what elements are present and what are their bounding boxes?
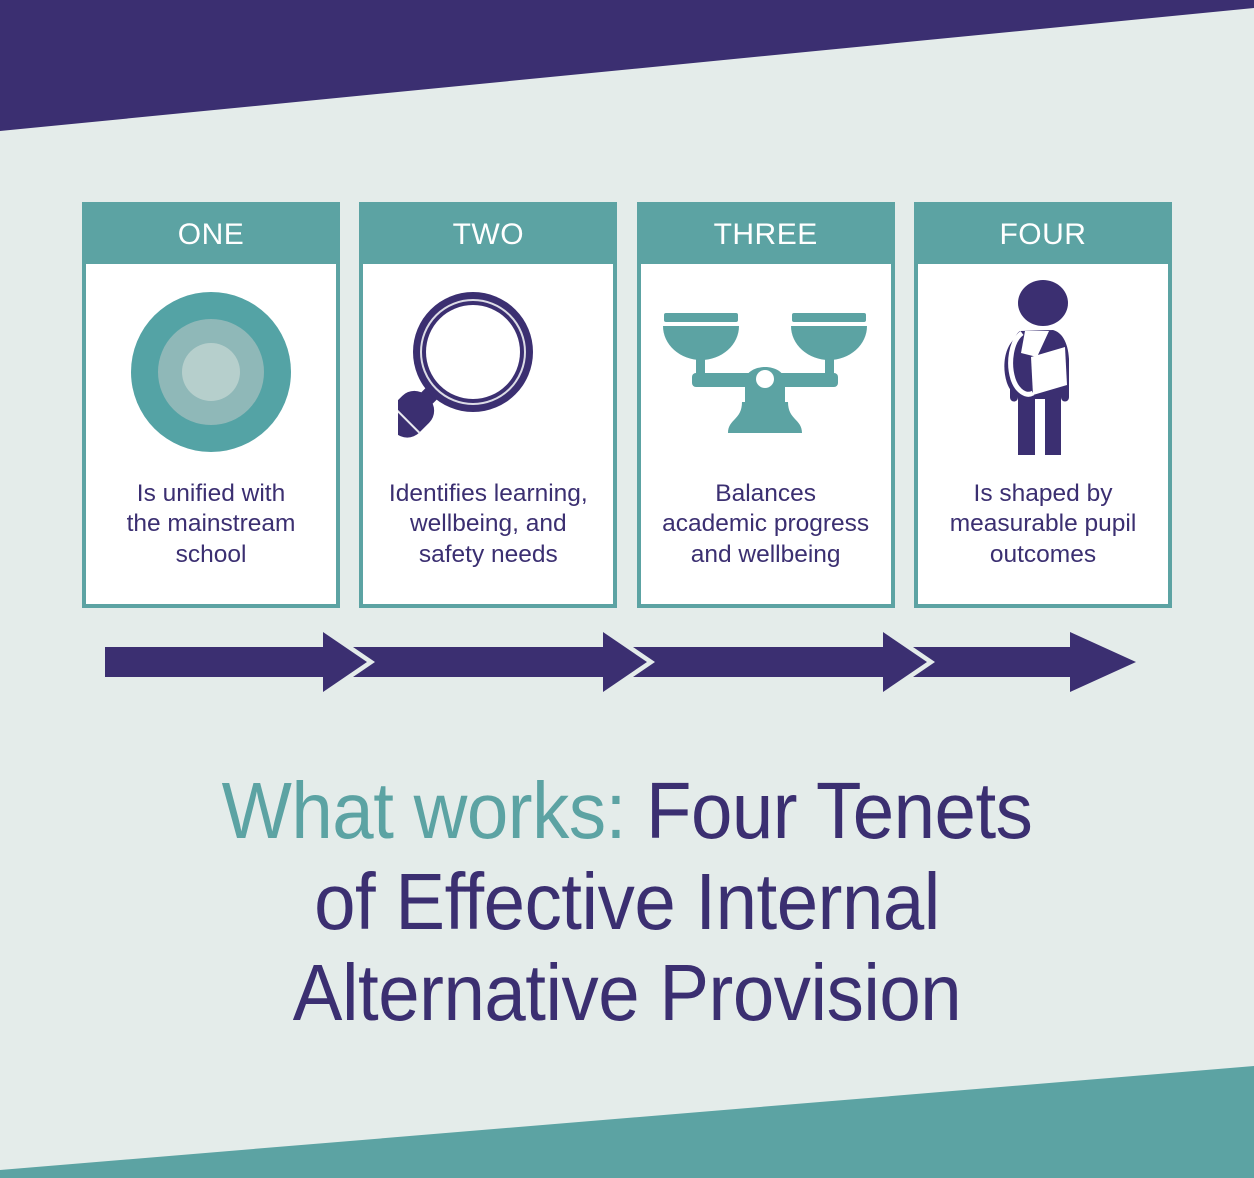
title-line-1: What works: Four Tenets (44, 765, 1210, 856)
magnifying-glass-icon (363, 264, 613, 479)
infographic-canvas: ONE Is unified with the mainstream schoo… (0, 0, 1254, 1178)
card-one-header: ONE (86, 206, 336, 264)
bottom-teal-wedge (0, 1066, 1254, 1178)
balance-scale-icon (641, 264, 891, 479)
concentric-circles-icon (86, 264, 336, 479)
card-one-caption: Is unified with the mainstream school (117, 479, 306, 570)
card-four-body: Is shaped by measurable pupil outcomes (918, 264, 1168, 604)
tenet-card-three[interactable]: THREE (637, 202, 895, 608)
title-line-3: Alternative Provision (44, 947, 1210, 1038)
tenet-card-four[interactable]: FOUR (914, 202, 1172, 608)
title-line-2: of Effective Internal (44, 856, 1210, 947)
top-purple-wedge (0, 0, 1254, 140)
tenet-card-one[interactable]: ONE Is unified with the mainstream schoo… (82, 202, 340, 608)
card-four-caption: Is shaped by measurable pupil outcomes (940, 479, 1147, 570)
card-three-body: Balances academic progress and wellbeing (641, 264, 891, 604)
card-four-header: FOUR (918, 206, 1168, 264)
student-with-backpack-icon (918, 264, 1168, 479)
card-two-header: TWO (363, 206, 613, 264)
card-one-body: Is unified with the mainstream school (86, 264, 336, 604)
title-accent: What works: (222, 766, 626, 855)
page-title: What works: Four Tenets of Effective Int… (44, 765, 1210, 1039)
card-two-body: Identifies learning, wellbeing, and safe… (363, 264, 613, 604)
title-line-1-rest: Four Tenets (626, 766, 1033, 855)
tenet-card-two[interactable]: TWO (359, 202, 617, 608)
tenet-card-row: ONE Is unified with the mainstream schoo… (82, 202, 1172, 608)
card-three-caption: Balances academic progress and wellbeing (652, 479, 879, 570)
right-arrow-progression-icon (105, 632, 1138, 692)
card-three-header: THREE (641, 206, 891, 264)
card-two-caption: Identifies learning, wellbeing, and safe… (379, 479, 598, 570)
